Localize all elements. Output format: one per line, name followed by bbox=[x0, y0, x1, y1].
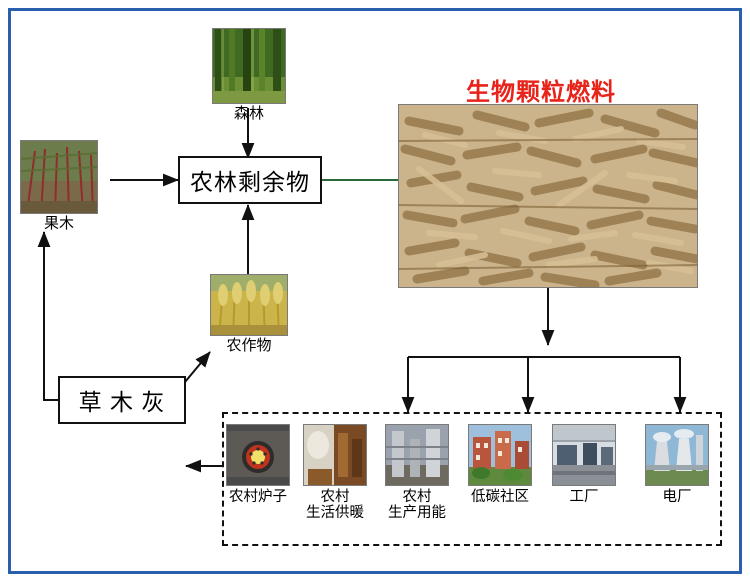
application-rural-production-label: 农村 生产用能 bbox=[385, 489, 449, 521]
crops-photo bbox=[210, 274, 288, 336]
diagram-canvas: 森林 果木 bbox=[0, 0, 750, 582]
biomass-pellet-fuel-photo bbox=[398, 104, 698, 288]
forest-photo bbox=[212, 28, 286, 104]
fruit-tree-photo bbox=[20, 140, 98, 214]
fruit-tree-caption: 果木 bbox=[20, 216, 98, 233]
forest-caption: 森林 bbox=[212, 106, 286, 123]
rural-stove-photo bbox=[226, 424, 290, 486]
factory-photo bbox=[552, 424, 616, 486]
node-plant-ash: 草 木 灰 bbox=[58, 376, 186, 424]
application-factory-label: 工厂 bbox=[552, 489, 616, 505]
application-rural-stove: 农村炉子 bbox=[226, 424, 290, 505]
application-power-plant-label: 电厂 bbox=[645, 489, 709, 505]
application-factory: 工厂 bbox=[552, 424, 616, 505]
application-power-plant: 电厂 bbox=[645, 424, 709, 505]
application-rural-heating: 农村 生活供暖 bbox=[303, 424, 367, 521]
power-plant-photo bbox=[645, 424, 709, 486]
application-rural-production: 农村 生产用能 bbox=[385, 424, 449, 521]
application-low-carbon-community: 低碳社区 bbox=[468, 424, 532, 505]
low-carbon-community-photo bbox=[468, 424, 532, 486]
node-plant-ash-label: 草 木 灰 bbox=[79, 383, 166, 417]
pellet-fuel-title: 生物颗粒燃料 bbox=[466, 72, 616, 107]
rural-heating-photo bbox=[303, 424, 367, 486]
node-agroforestry-residue-label: 农林剩余物 bbox=[190, 163, 310, 197]
application-rural-heating-label: 农村 生活供暖 bbox=[303, 489, 367, 521]
application-low-carbon-community-label: 低碳社区 bbox=[468, 489, 532, 505]
rural-production-photo bbox=[385, 424, 449, 486]
node-agroforestry-residue: 农林剩余物 bbox=[178, 156, 322, 204]
crops-caption: 农作物 bbox=[204, 338, 294, 355]
application-rural-stove-label: 农村炉子 bbox=[226, 489, 290, 505]
